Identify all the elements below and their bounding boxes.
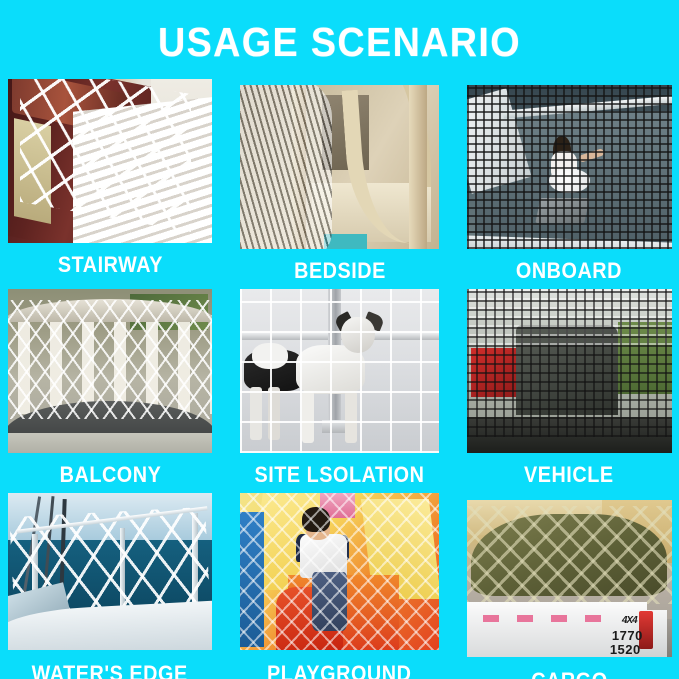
caption-playground: PLAYGROUND <box>267 650 411 679</box>
page-title: USAGE SCENARIO <box>27 0 652 63</box>
usage-item-onboard[interactable]: ONBOARD <box>467 79 671 289</box>
usage-item-waters-edge[interactable]: WATER'S EDGE <box>8 493 212 679</box>
site-isolation-net-photo[interactable] <box>240 289 439 453</box>
truck-plate-line-1: 1770 <box>612 628 643 643</box>
stairway-safety-net-photo[interactable] <box>8 79 212 243</box>
playground-net-overlay <box>240 493 439 650</box>
caption-stairway: STAIRWAY <box>57 243 162 283</box>
usage-item-playground[interactable]: PLAYGROUND <box>238 493 441 679</box>
balcony-ground-shape <box>8 433 212 453</box>
usage-item-vehicle[interactable]: VEHICLE <box>467 289 671 493</box>
waters-edge-safety-net-photo[interactable] <box>8 493 212 650</box>
usage-item-site-isolation[interactable]: SITE LSOLATION <box>238 289 441 493</box>
caption-waters-edge: WATER'S EDGE <box>32 650 188 679</box>
usage-item-stairway[interactable]: STAIRWAY <box>8 79 212 289</box>
usage-item-cargo[interactable]: 4X4 1770 1520 CARGO <box>467 493 671 679</box>
site-net-overlay <box>240 289 439 453</box>
balcony-net-overlay <box>8 300 212 418</box>
truck-reflector-strip-shape <box>483 615 610 623</box>
caption-vehicle: VEHICLE <box>524 453 614 493</box>
bed-net-overlay <box>240 85 332 249</box>
cargo-net-overlay <box>467 506 672 603</box>
vehicle-net-overlay <box>467 289 672 437</box>
onboard-safety-net-photo[interactable] <box>467 85 672 249</box>
usage-scenario-grid: STAIRWAY BEDSIDE ON <box>8 79 671 679</box>
usage-item-bedside[interactable]: BEDSIDE <box>238 79 441 289</box>
caption-cargo: CARGO <box>531 657 607 679</box>
bed-post-right-shape <box>409 85 427 249</box>
usage-item-balcony[interactable]: BALCONY <box>8 289 212 493</box>
caption-bedside: BEDSIDE <box>294 249 386 289</box>
truck-plate-line-2: 1520 <box>610 642 641 657</box>
caption-site-isolation: SITE LSOLATION <box>254 453 424 493</box>
truck-4x4-badge: 4X4 <box>622 615 637 626</box>
caption-balcony: BALCONY <box>59 453 161 493</box>
caption-onboard: ONBOARD <box>516 249 622 289</box>
bedside-safety-net-photo[interactable] <box>240 85 439 249</box>
vehicle-cargo-net-photo[interactable] <box>467 289 672 453</box>
cargo-net-photo[interactable]: 4X4 1770 1520 <box>467 500 672 657</box>
balcony-safety-net-photo[interactable] <box>8 289 212 453</box>
boat-net-overlay <box>467 85 672 249</box>
playground-climbing-net-photo[interactable] <box>240 493 439 650</box>
